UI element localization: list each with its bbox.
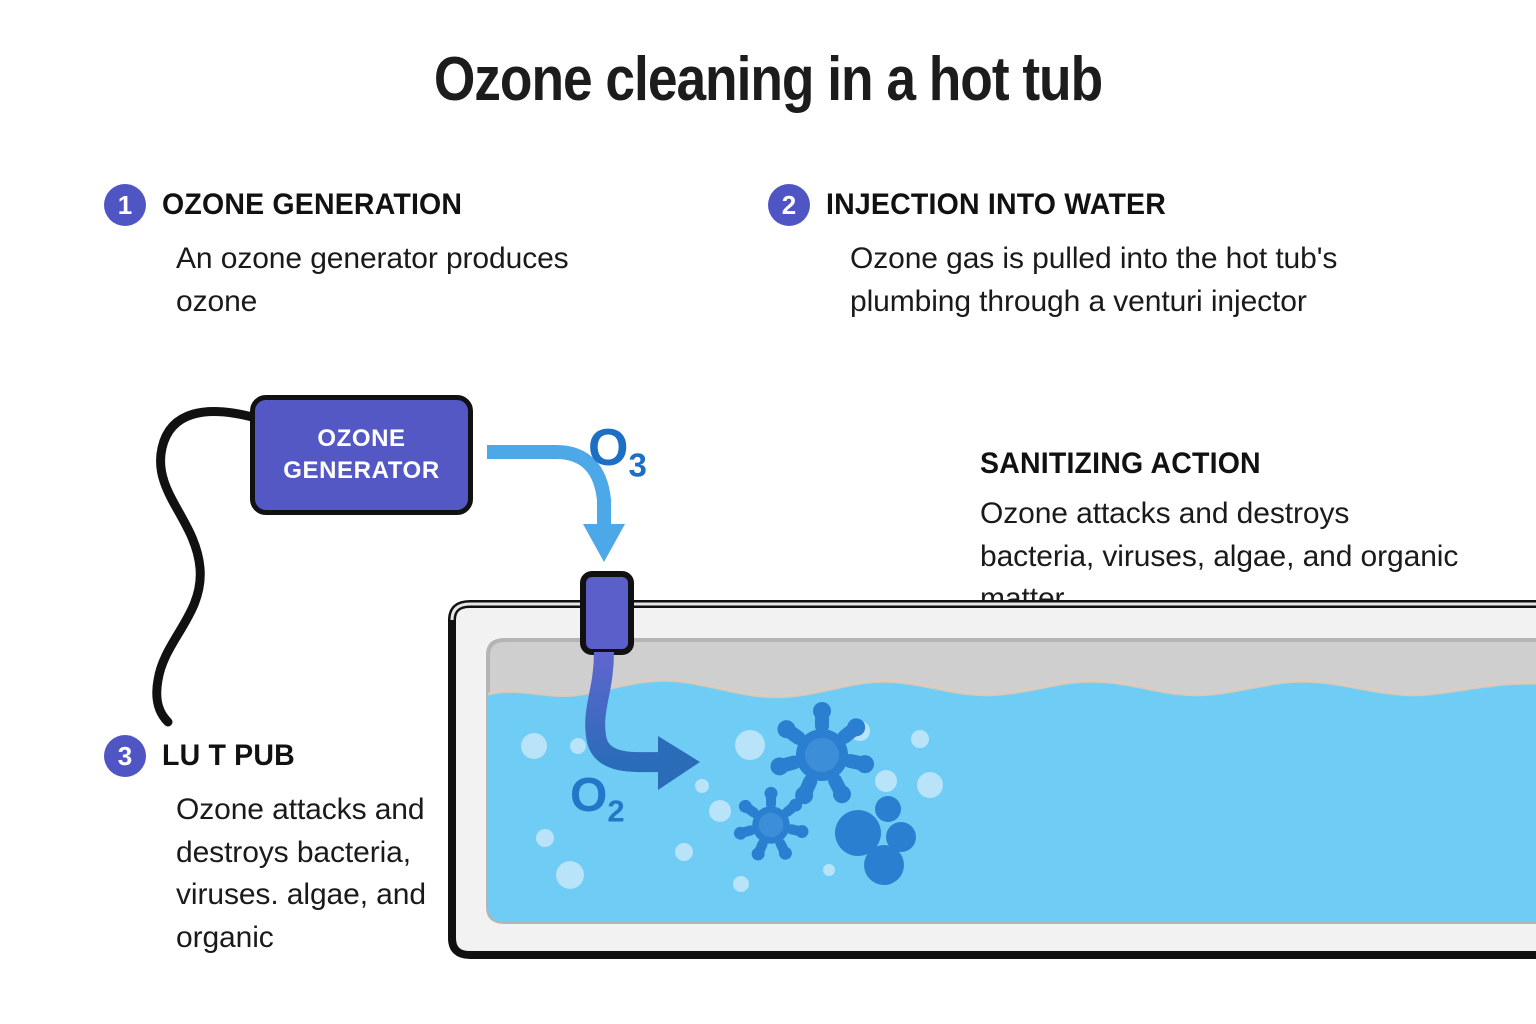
sanitizing-header: SANITIZING ACTION (980, 447, 1480, 481)
step-3-header: 3 LU T PUB (104, 735, 504, 777)
step-4-title: BYPRODUCTS (1058, 716, 1259, 750)
step-1-header: 1 OZONE GENERATION (104, 184, 664, 226)
ozone-generator-box[interactable]: OZONE GENERATOR (250, 395, 473, 515)
virus-large-icon (768, 702, 875, 807)
ozone-formula-label: O3 (588, 418, 647, 484)
virus-small-icon (732, 787, 809, 863)
o2-subscript: 2 (607, 794, 624, 829)
sanitizing-title: SANITIZING ACTION (980, 447, 1261, 481)
infographic-root: Ozone cleaning in a hot tub 1 OZONE GENE… (0, 0, 1536, 1024)
water-surface-line (488, 680, 1536, 696)
step-4-header: 4 BYPRODUCTS (1000, 712, 1440, 754)
page-title: Ozone cleaning in a hot tub (108, 44, 1429, 115)
step-injection-into-water: 2 INJECTION INTO WATER Ozone gas is pull… (768, 184, 1408, 323)
step-3-badge: 3 (104, 735, 146, 777)
venturi-injector (583, 574, 631, 652)
step-1-body: An ozone generator produces ozone (176, 238, 576, 323)
power-cord (157, 411, 256, 722)
step-2-header: 2 INJECTION INTO WATER (768, 184, 1408, 226)
step-3-body: Ozone attacks and destroys bacteria, vir… (176, 789, 506, 959)
generator-label-line2: GENERATOR (283, 455, 440, 487)
o3-subscript: 3 (628, 446, 646, 483)
step-byproducts: 4 BYPRODUCTS After doing its job, ozone … (1000, 712, 1440, 849)
step-4-badge: 4 (1000, 712, 1042, 754)
step-2-title: INJECTION INTO WATER (826, 188, 1166, 222)
step-3-title: LU T PUB (162, 739, 295, 773)
step-sanitizing-action: SANITIZING ACTION Ozone attacks and dest… (980, 447, 1480, 621)
step-lu-t-pub: 3 LU T PUB Ozone attacks and destroys ba… (104, 735, 504, 959)
step-1-badge: 1 (104, 184, 146, 226)
step-4-body: After doing its job, ozone reverts back … (1072, 764, 1432, 849)
oxygen-formula-label: O2 (570, 768, 625, 830)
o3-element: O (588, 419, 628, 477)
o2-element: O (570, 769, 607, 822)
step-2-badge: 2 (768, 184, 810, 226)
bacteria-cluster-icon (835, 796, 916, 885)
step-1-title: OZONE GENERATION (162, 188, 462, 222)
generator-label-line1: OZONE (317, 423, 405, 455)
step-2-body: Ozone gas is pulled into the hot tub's p… (850, 238, 1420, 323)
step-ozone-generation: 1 OZONE GENERATION An ozone generator pr… (104, 184, 664, 323)
sanitizing-body: Ozone attacks and destroys bacteria, vir… (980, 493, 1470, 621)
